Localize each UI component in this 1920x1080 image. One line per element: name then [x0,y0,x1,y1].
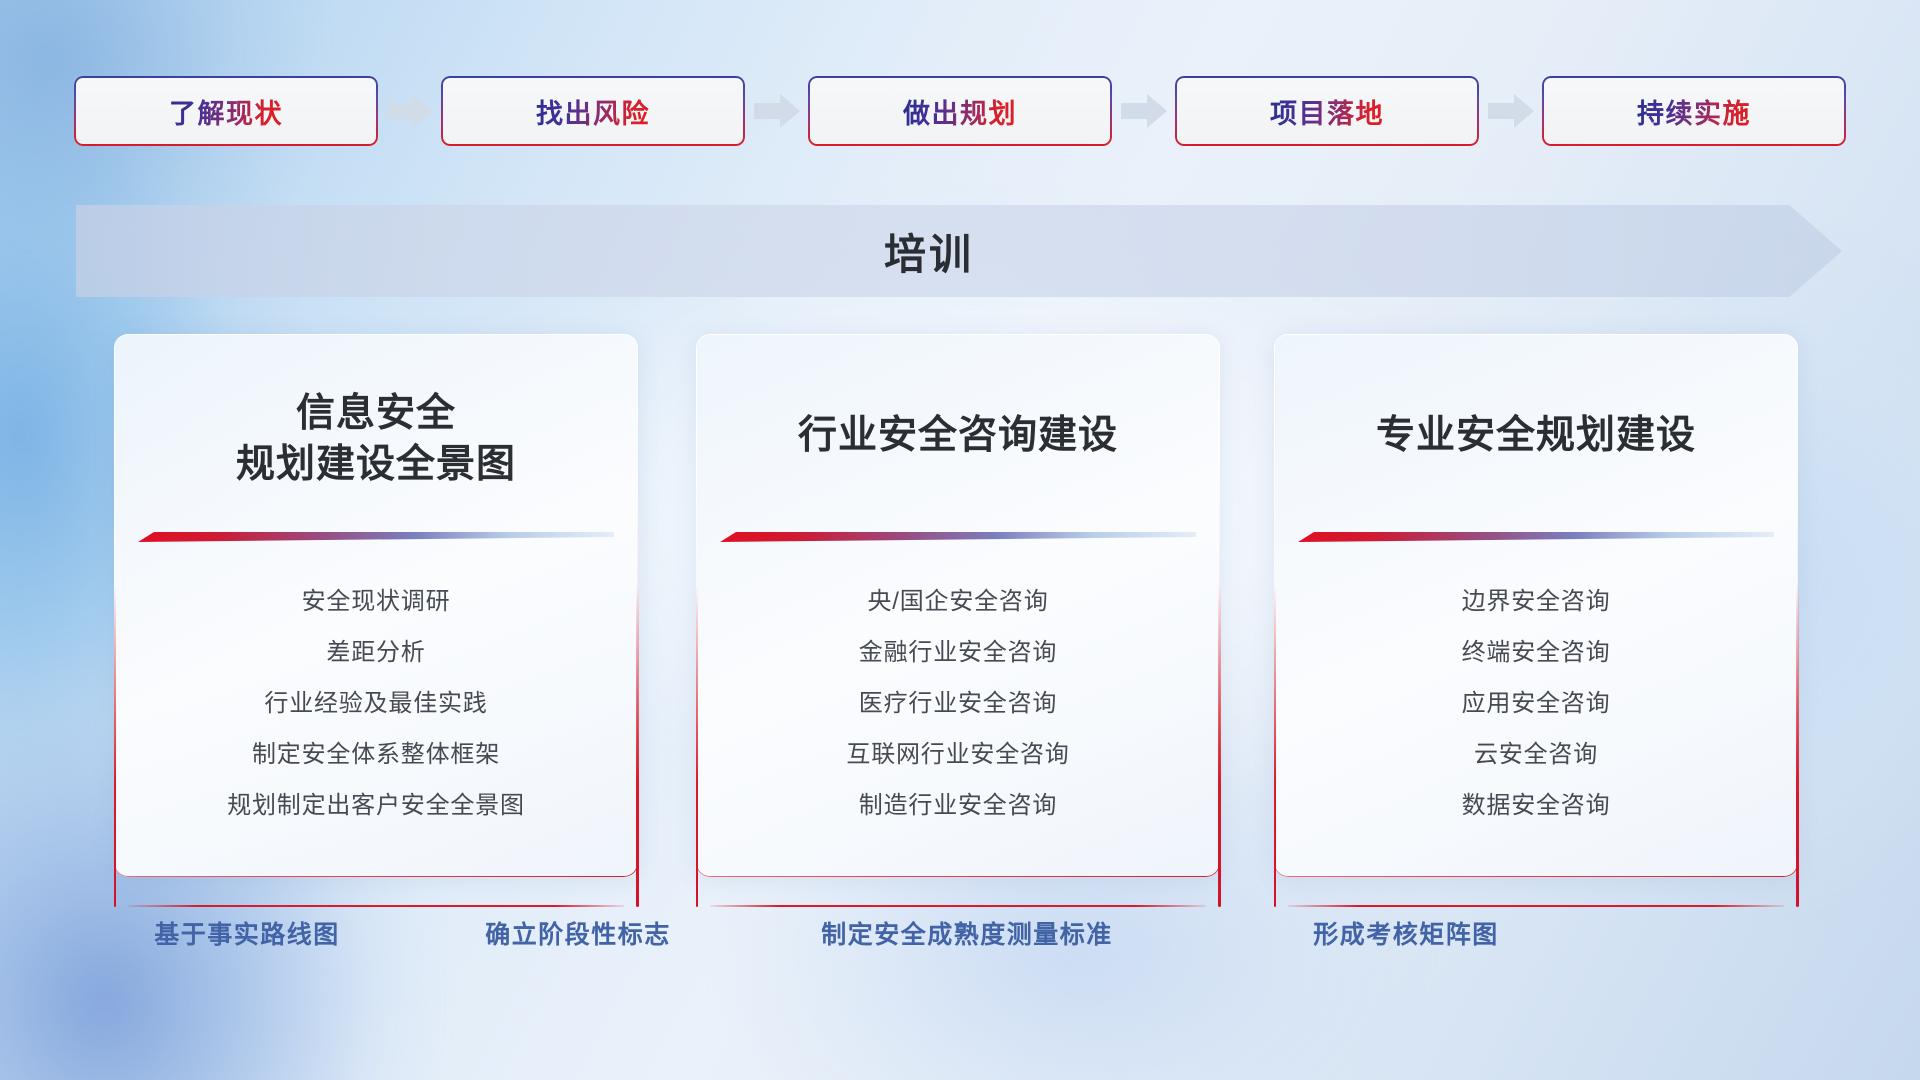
step-box-4[interactable]: 项目落地 [1175,76,1479,146]
step-label-5: 持续实施 [1637,92,1751,131]
step-label-3: 做出规划 [903,92,1017,131]
card-information-security-blueprint[interactable]: 信息安全 规划建设全景图 安全现状调研 差距分析 行 [114,334,638,877]
list-item: 医疗行业安全咨询 [696,692,1220,716]
step-box-2[interactable]: 找出风险 [441,76,745,146]
list-item: 应用安全咨询 [1274,692,1798,716]
step-box-1[interactable]: 了解现状 [74,76,378,146]
card-industry-security-consulting[interactable]: 行业安全咨询建设 央/国企安全咨询 金融行业安全咨询 [696,334,1220,877]
step-arrow-icon-4 [1479,76,1542,146]
footer-label-1: 基于事实路线图 [154,915,340,951]
step-box-5[interactable]: 持续实施 [1542,76,1846,146]
list-item: 央/国企安全咨询 [696,590,1220,614]
step-label-2: 找出风险 [536,92,650,131]
list-item: 制造行业安全咨询 [696,794,1220,818]
card-divider-1 [138,530,614,544]
list-item: 制定安全体系整体框架 [114,743,638,767]
step-label-4: 项目落地 [1270,92,1384,131]
footer-label-4: 形成考核矩阵图 [1313,915,1499,951]
list-item: 规划制定出客户安全全景图 [114,794,638,818]
footer-label-3: 制定安全成熟度测量标准 [821,915,1113,951]
list-item: 数据安全咨询 [1274,794,1798,818]
card-list-2: 央/国企安全咨询 金融行业安全咨询 医疗行业安全咨询 互联网行业安全咨询 制造行… [696,590,1220,818]
card-list-3: 边界安全咨询 终端安全咨询 应用安全咨询 云安全咨询 数据安全咨询 [1274,590,1798,818]
list-item: 行业经验及最佳实践 [114,692,638,716]
card-title-1: 信息安全 规划建设全景图 [114,388,638,491]
card-title-2: 行业安全咨询建设 [696,410,1220,461]
training-banner: 培训 [76,205,1842,297]
list-item: 差距分析 [114,641,638,665]
step-arrow-icon-1 [378,76,441,146]
step-label-1: 了解现状 [169,92,283,131]
process-step-row: 了解现状 找出风险 做出规划 项目落地 持续实施 [74,76,1846,146]
list-item: 安全现状调研 [114,590,638,614]
list-item: 互联网行业安全咨询 [696,743,1220,767]
training-label: 培训 [46,205,1812,297]
footer-label-row: 基于事实路线图 确立阶段性标志 制定安全成熟度测量标准 形成考核矩阵图 [0,915,1920,961]
footer-label-2: 确立阶段性标志 [485,915,671,951]
list-item: 金融行业安全咨询 [696,641,1220,665]
step-arrow-icon-3 [1112,76,1175,146]
step-arrow-icon-2 [745,76,808,146]
step-box-3[interactable]: 做出规划 [808,76,1112,146]
card-professional-security-planning[interactable]: 专业安全规划建设 边界安全咨询 终端安全咨询 应用安 [1274,334,1798,877]
list-item: 终端安全咨询 [1274,641,1798,665]
card-divider-2 [720,530,1196,544]
card-grid: 信息安全 规划建设全景图 安全现状调研 差距分析 行 [0,334,1920,888]
card-divider-3 [1298,530,1774,544]
list-item: 云安全咨询 [1274,743,1798,767]
card-list-1: 安全现状调研 差距分析 行业经验及最佳实践 制定安全体系整体框架 规划制定出客户… [114,590,638,818]
list-item: 边界安全咨询 [1274,590,1798,614]
card-title-3: 专业安全规划建设 [1274,410,1798,461]
